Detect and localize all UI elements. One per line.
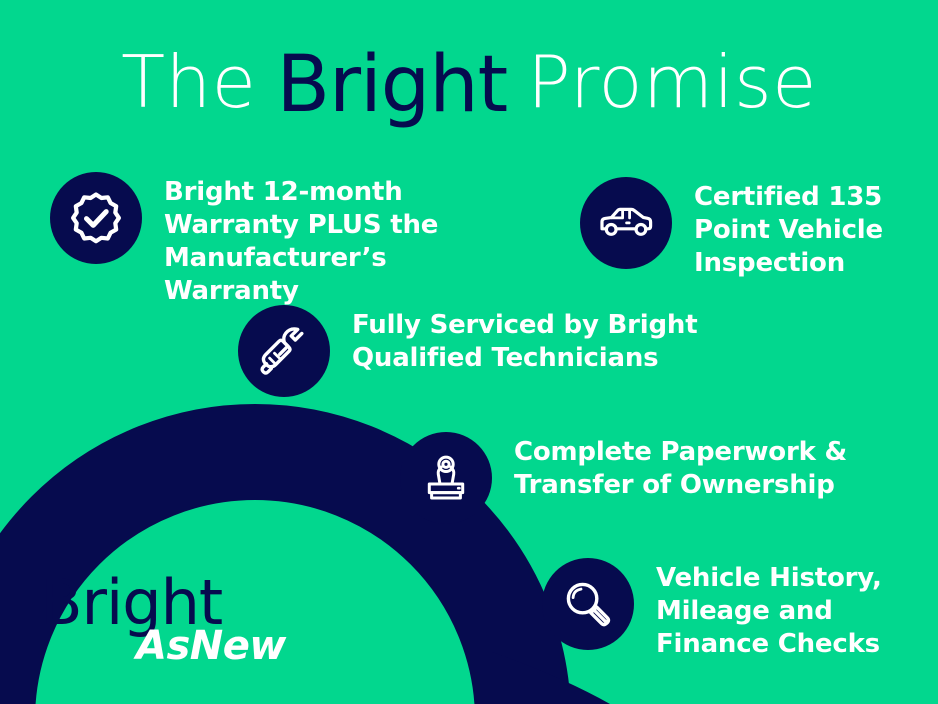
feature-icon-badge xyxy=(50,172,142,264)
brand-logo-secondary: AsNew xyxy=(136,626,300,666)
headline-suffix: Promise xyxy=(527,40,817,124)
feature-label: Vehicle History, Mileage and Finance Che… xyxy=(656,558,896,661)
brand-logo-lockup: Bright AsNew xyxy=(40,572,300,682)
headline-brand-logotype: Bright xyxy=(276,40,507,130)
feature-label: Complete Paperwork & Transfer of Ownersh… xyxy=(514,432,864,502)
page-title: TheBrightPromise xyxy=(0,42,938,120)
feature-icon-badge xyxy=(400,432,492,524)
feature-item-paperwork: Complete Paperwork & Transfer of Ownersh… xyxy=(400,432,864,524)
headline-prefix: The xyxy=(121,40,256,124)
car-icon xyxy=(596,193,656,253)
feature-item-warranty: Bright 12-month Warranty PLUS the Manufa… xyxy=(50,172,524,308)
feature-icon-badge xyxy=(542,558,634,650)
feature-icon-badge xyxy=(238,305,330,397)
feature-icon-badge xyxy=(580,177,672,269)
feature-item-checks: Vehicle History, Mileage and Finance Che… xyxy=(542,558,896,661)
rubber-stamp-icon xyxy=(419,451,473,505)
feature-item-servicing: Fully Serviced by Bright Qualified Techn… xyxy=(238,305,712,397)
bright-promise-poster: TheBrightPromise Bright 12-month Warrant… xyxy=(0,0,938,704)
feature-label: Fully Serviced by Bright Qualified Techn… xyxy=(352,305,712,375)
verified-badge-check-icon xyxy=(67,189,125,247)
feature-label: Certified 135 Point Vehicle Inspection xyxy=(694,177,914,280)
magnifying-glass-icon xyxy=(560,576,616,632)
wrench-plug-icon xyxy=(255,322,313,380)
feature-item-inspection: Certified 135 Point Vehicle Inspection xyxy=(580,177,914,280)
feature-label: Bright 12-month Warranty PLUS the Manufa… xyxy=(164,172,524,308)
